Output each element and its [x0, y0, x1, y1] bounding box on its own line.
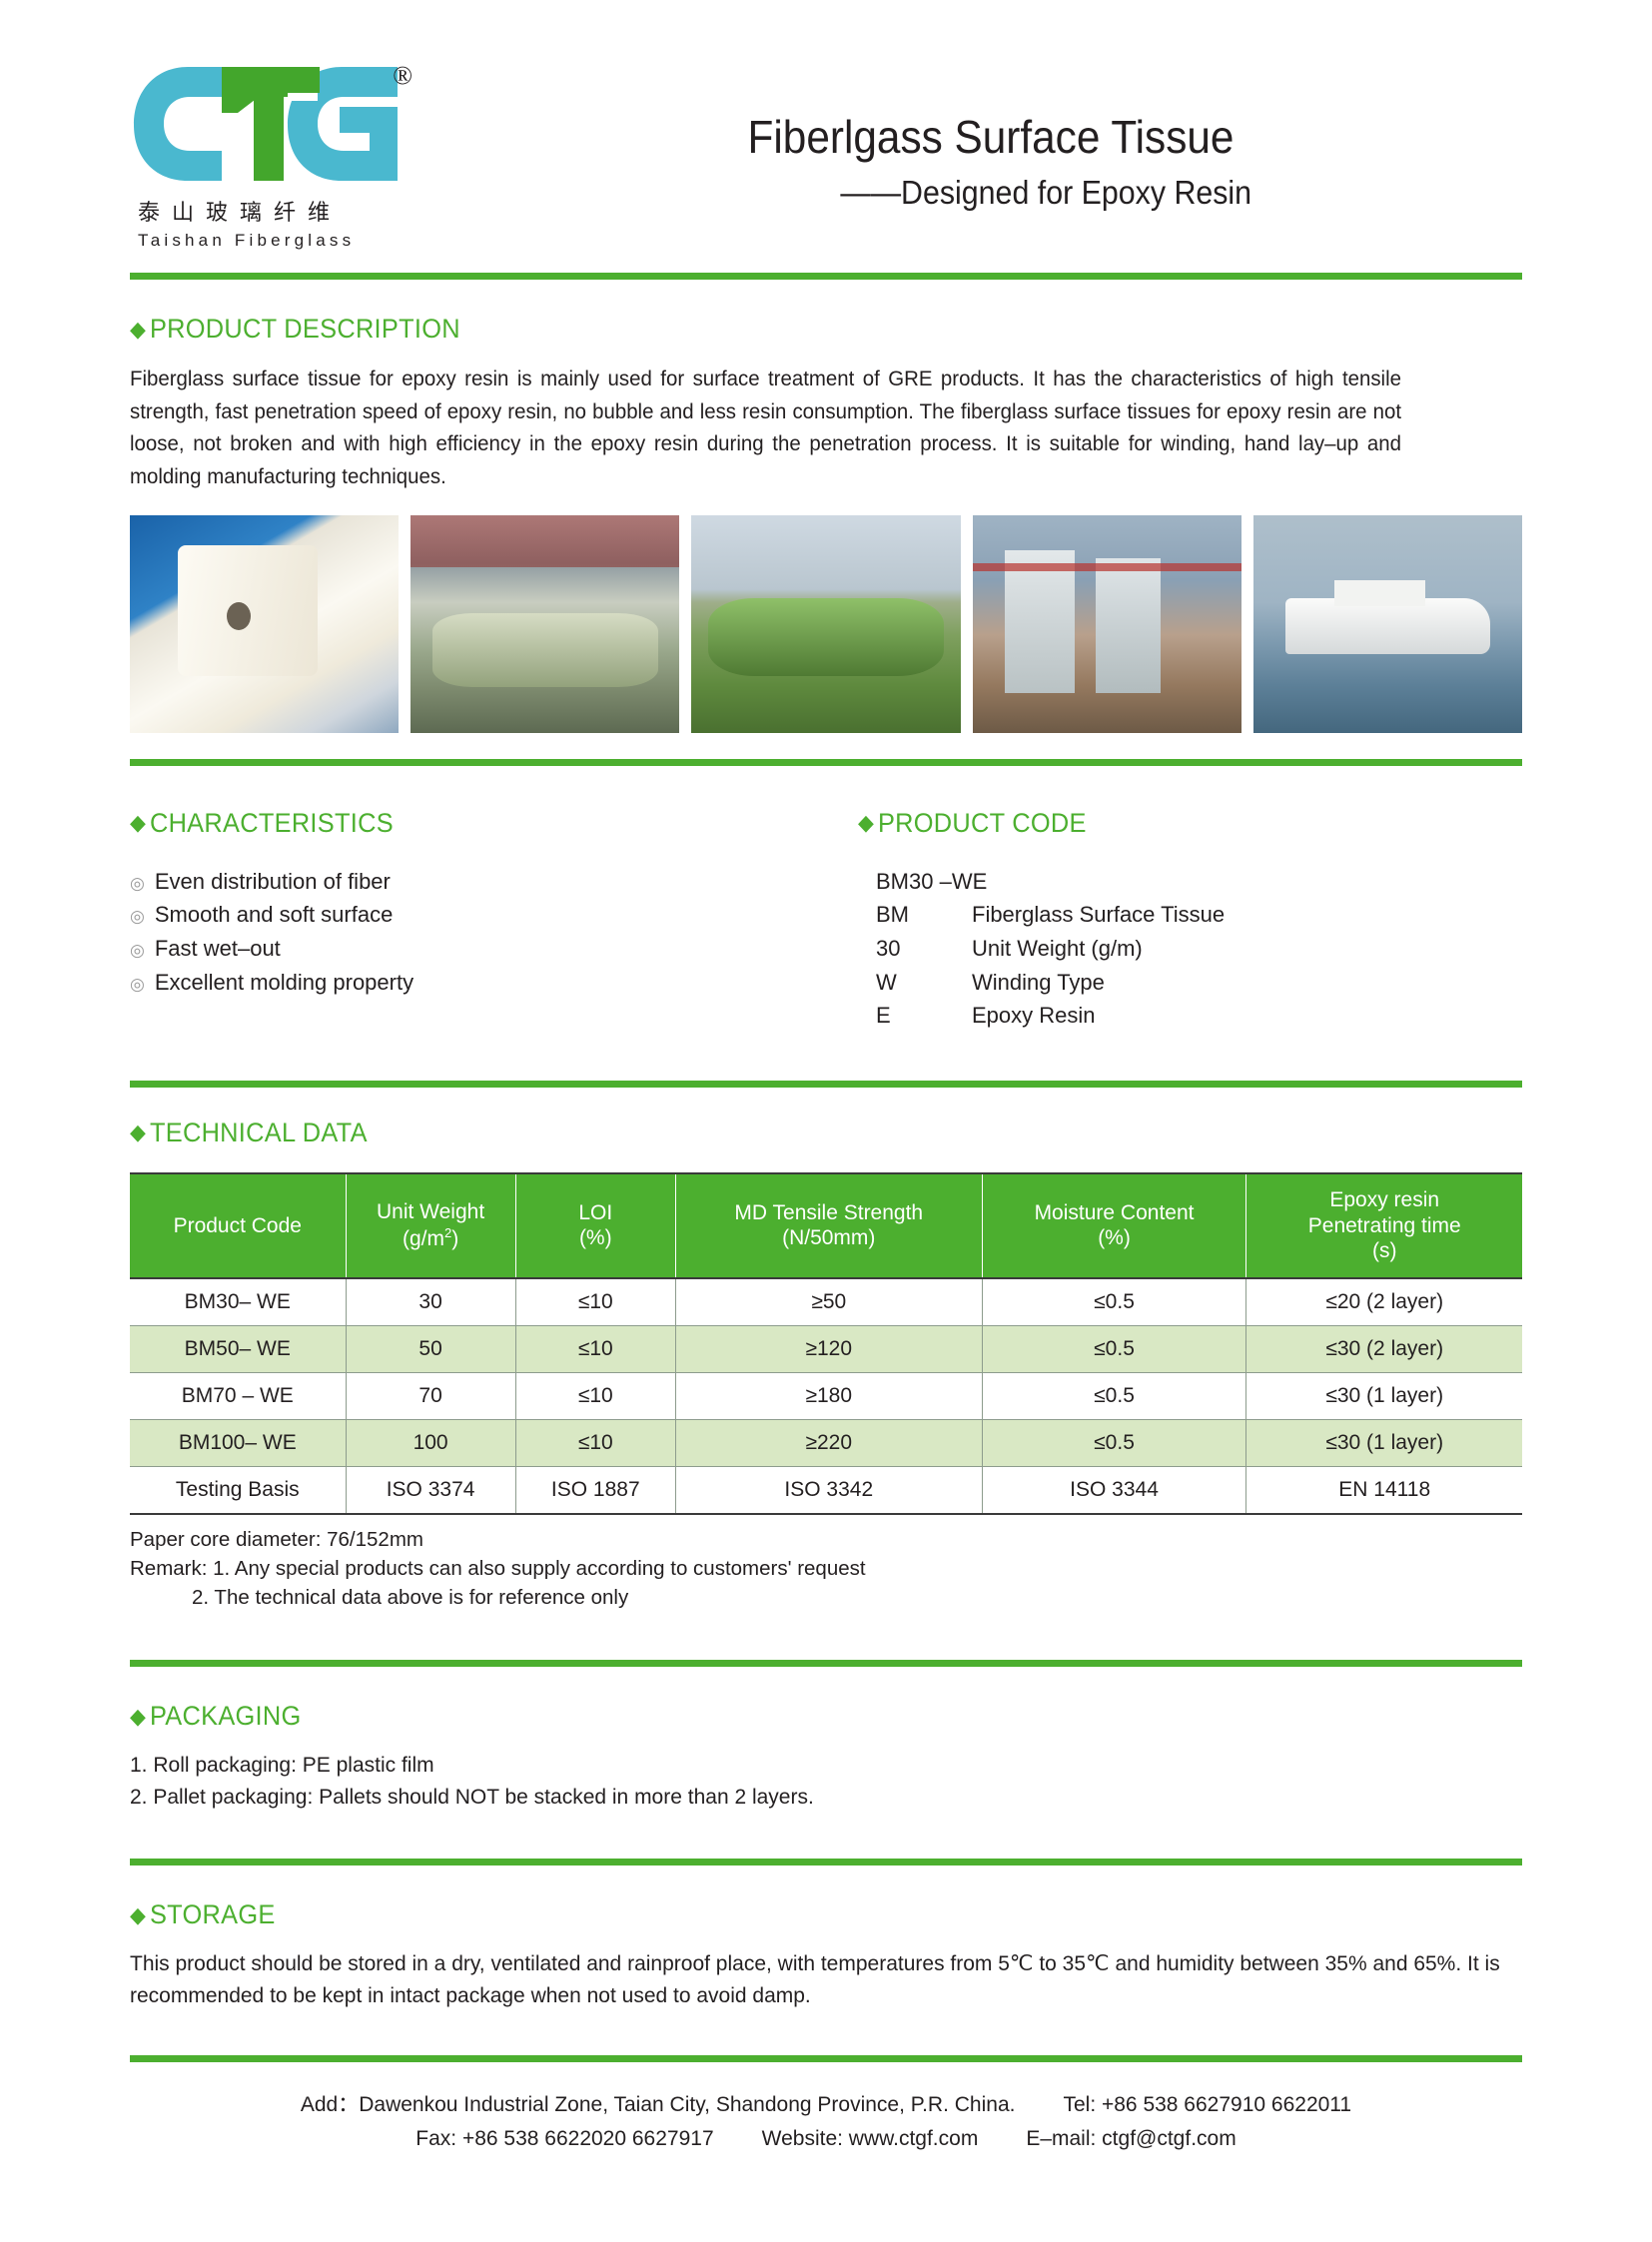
ctg-logo-icon: ® — [130, 63, 405, 185]
divider-header — [130, 273, 1522, 280]
cell-unit-weight: 50 — [346, 1325, 515, 1372]
section-heading-storage: ◆ STORAGE — [130, 1899, 1438, 1930]
footer-address: Add：Dawenkou Industrial Zone, Taian City… — [301, 2088, 1016, 2122]
title-block: Fiberlgass Surface Tissue ——Designed for… — [459, 55, 1522, 212]
column-header-md-tensile-strength: MD Tensile Strength (N/50mm) — [675, 1173, 982, 1278]
footer-telephone: Tel: +86 538 6627910 6622011 — [1015, 2088, 1351, 2122]
note-paper-core: Paper core diameter: 76/152mm — [130, 1525, 1522, 1554]
code-value: Fiberglass Surface Tissue — [972, 898, 1225, 932]
section-title-text: PACKAGING — [150, 1701, 302, 1732]
cell-testing-basis-moisture: ISO 3344 — [982, 1466, 1246, 1514]
list-item: E Epoxy Resin — [876, 999, 1522, 1033]
list-item: BM Fiberglass Surface Tissue — [876, 898, 1522, 932]
photo-green-frp-tank — [691, 515, 960, 733]
page-header: ® 泰山玻璃纤维 Taishan Fiberglass Fiberlgass S… — [0, 0, 1652, 251]
note-remark-1: Remark: 1. Any special products can also… — [130, 1554, 1522, 1583]
table-header: Product Code Unit Weight (g/m2) LOI (%) … — [130, 1173, 1522, 1278]
column-header-moisture-content: Moisture Content (%) — [982, 1173, 1246, 1278]
page-title: Fiberlgass Surface Tissue — [502, 110, 1480, 164]
section-heading-technical-data: ◆ TECHNICAL DATA — [130, 1118, 1438, 1148]
cell-unit-weight: 30 — [346, 1278, 515, 1326]
diamond-bullet-icon: ◆ — [130, 812, 146, 834]
cell-md-tensile: ≥180 — [675, 1372, 982, 1419]
cell-product-code: BM50– WE — [130, 1325, 346, 1372]
section-heading-product-code: ◆ PRODUCT CODE — [858, 808, 1482, 839]
product-description-paragraph: Fiberglass surface tissue for epoxy resi… — [130, 363, 1401, 493]
technical-data-table-wrapper: Product Code Unit Weight (g/m2) LOI (%) … — [0, 1172, 1652, 1515]
circle-bullet-icon: ◎ — [130, 938, 145, 964]
product-code-example-text: BM30 –WE — [876, 865, 987, 899]
cell-product-code: BM30– WE — [130, 1278, 346, 1326]
circle-bullet-icon: ◎ — [130, 871, 145, 897]
datasheet-page: ® 泰山玻璃纤维 Taishan Fiberglass Fiberlgass S… — [0, 0, 1652, 2242]
footer-website: Website: www.ctgf.com — [714, 2122, 979, 2156]
list-item: ◎ Smooth and soft surface — [130, 898, 826, 932]
list-item: ◎ Even distribution of fiber — [130, 865, 826, 899]
cell-loi: ≤10 — [515, 1325, 675, 1372]
list-item: ◎ Excellent molding property — [130, 966, 826, 1000]
note-remark-2: 2. The technical data above is for refer… — [130, 1583, 1522, 1612]
diamond-bullet-icon: ◆ — [130, 1904, 146, 1926]
table-header-row: Product Code Unit Weight (g/m2) LOI (%) … — [130, 1173, 1522, 1278]
table-row: BM30– WE 30 ≤10 ≥50 ≤0.5 ≤20 (2 layer) — [130, 1278, 1522, 1326]
circle-bullet-icon: ◎ — [130, 904, 145, 930]
section-heading-packaging: ◆ PACKAGING — [130, 1701, 1438, 1732]
diamond-bullet-icon: ◆ — [130, 1121, 146, 1143]
product-photo-strip — [130, 515, 1522, 733]
cell-product-code: BM70 – WE — [130, 1372, 346, 1419]
photo-frp-storage-tanks — [973, 515, 1241, 733]
circle-bullet-icon: ◎ — [130, 972, 145, 998]
cell-moisture: ≤0.5 — [982, 1372, 1246, 1419]
column-header-unit-weight: Unit Weight (g/m2) — [346, 1173, 515, 1278]
code-key: BM — [876, 898, 972, 932]
list-item-label: Excellent molding property — [155, 966, 413, 1000]
section-title-text: STORAGE — [150, 1899, 276, 1930]
diamond-bullet-icon: ◆ — [130, 319, 146, 341]
company-name-english: Taishan Fiberglass — [138, 231, 459, 251]
divider-after-table — [130, 1660, 1522, 1667]
table-row: BM50– WE 50 ≤10 ≥120 ≤0.5 ≤30 (2 layer) — [130, 1325, 1522, 1372]
cell-md-tensile: ≥120 — [675, 1325, 982, 1372]
packaging-list: 1. Roll packaging: PE plastic film 2. Pa… — [130, 1750, 1522, 1813]
code-value: Unit Weight (g/m) — [972, 932, 1143, 966]
section-title-text: TECHNICAL DATA — [150, 1118, 368, 1148]
diamond-bullet-icon: ◆ — [858, 812, 874, 834]
product-code-list: BM30 –WE BM Fiberglass Surface Tissue 30… — [858, 865, 1522, 1033]
cell-testing-basis-md-tensile: ISO 3342 — [675, 1466, 982, 1514]
footer-row-1: Add：Dawenkou Industrial Zone, Taian City… — [130, 2088, 1522, 2122]
section-title-text: PRODUCT DESCRIPTION — [150, 314, 460, 345]
section-heading-characteristics: ◆ CHARACTERISTICS — [130, 808, 784, 839]
cell-moisture: ≤0.5 — [982, 1325, 1246, 1372]
product-code-example: BM30 –WE — [876, 865, 1522, 899]
table-notes: Paper core diameter: 76/152mm Remark: 1.… — [0, 1525, 1652, 1612]
photo-fiberglass-tissue-roll — [130, 515, 399, 733]
column-header-epoxy-penetrating-time: Epoxy resin Penetrating time (s) — [1246, 1173, 1522, 1278]
column-header-product-code: Product Code — [130, 1173, 346, 1278]
characteristics-and-code-row: ◆ CHARACTERISTICS ◎ Even distribution of… — [0, 808, 1652, 1033]
cell-md-tensile: ≥220 — [675, 1419, 982, 1466]
cell-loi: ≤10 — [515, 1419, 675, 1466]
list-item: ◎ Fast wet–out — [130, 932, 826, 966]
footer-fax: Fax: +86 538 6622020 6627917 — [415, 2122, 713, 2156]
code-value: Epoxy Resin — [972, 999, 1096, 1033]
diamond-bullet-icon: ◆ — [130, 1706, 146, 1728]
company-logo: ® 泰山玻璃纤维 Taishan Fiberglass — [130, 55, 459, 251]
cell-testing-basis-loi: ISO 1887 — [515, 1466, 675, 1514]
divider-footer — [130, 2055, 1522, 2062]
list-item-label: Fast wet–out — [155, 932, 281, 966]
cell-moisture: ≤0.5 — [982, 1419, 1246, 1466]
section-title-text: PRODUCT CODE — [878, 808, 1087, 839]
column-header-loi: LOI (%) — [515, 1173, 675, 1278]
cell-loi: ≤10 — [515, 1372, 675, 1419]
section-heading-product-description: ◆ PRODUCT DESCRIPTION — [130, 314, 1438, 345]
cell-testing-basis-unit-weight: ISO 3374 — [346, 1466, 515, 1514]
cell-unit-weight: 100 — [346, 1419, 515, 1466]
divider-after-description — [130, 759, 1522, 766]
cell-testing-basis-penetrating: EN 14118 — [1246, 1466, 1522, 1514]
list-item-label: Even distribution of fiber — [155, 865, 391, 899]
unit-weight-units: (g/m2) — [351, 1225, 511, 1252]
cell-loi: ≤10 — [515, 1278, 675, 1326]
list-item: 30 Unit Weight (g/m) — [876, 932, 1522, 966]
code-key: W — [876, 966, 972, 1000]
table-body: BM30– WE 30 ≤10 ≥50 ≤0.5 ≤20 (2 layer) B… — [130, 1278, 1522, 1514]
cell-moisture: ≤0.5 — [982, 1278, 1246, 1326]
section-title-text: CHARACTERISTICS — [150, 808, 394, 839]
company-name-chinese: 泰山玻璃纤维 — [138, 195, 459, 227]
cell-penetrating-time: ≤30 (1 layer) — [1246, 1419, 1522, 1466]
cell-penetrating-time: ≤30 (1 layer) — [1246, 1372, 1522, 1419]
storage-paragraph: This product should be stored in a dry, … — [130, 1948, 1518, 2011]
divider-after-packaging — [130, 1859, 1522, 1866]
cell-md-tensile: ≥50 — [675, 1278, 982, 1326]
photo-yacht-at-sea — [1253, 515, 1522, 733]
cell-unit-weight: 70 — [346, 1372, 515, 1419]
list-item-label: Smooth and soft surface — [155, 898, 393, 932]
divider-after-characteristics — [130, 1081, 1522, 1088]
cell-penetrating-time: ≤20 (2 layer) — [1246, 1278, 1522, 1326]
page-subtitle: ——Designed for Epoxy Resin — [502, 174, 1480, 212]
page-footer: Add：Dawenkou Industrial Zone, Taian City… — [0, 2088, 1652, 2155]
cell-product-code: BM100– WE — [130, 1419, 346, 1466]
code-key: 30 — [876, 932, 972, 966]
cell-penetrating-time: ≤30 (2 layer) — [1246, 1325, 1522, 1372]
registered-trademark-icon: ® — [393, 61, 413, 91]
code-key: E — [876, 999, 972, 1033]
table-row: BM70 – WE 70 ≤10 ≥180 ≤0.5 ≤30 (1 layer) — [130, 1372, 1522, 1419]
list-item: 2. Pallet packaging: Pallets should NOT … — [130, 1782, 1522, 1814]
cell-testing-basis-label: Testing Basis — [130, 1466, 346, 1514]
footer-row-2: Fax: +86 538 6622020 6627917 Website: ww… — [130, 2122, 1522, 2156]
footer-email: E–mail: ctgf@ctgf.com — [978, 2122, 1236, 2156]
table-row: BM100– WE 100 ≤10 ≥220 ≤0.5 ≤30 (1 layer… — [130, 1419, 1522, 1466]
list-item: 1. Roll packaging: PE plastic film — [130, 1750, 1522, 1782]
code-value: Winding Type — [972, 966, 1105, 1000]
technical-data-table: Product Code Unit Weight (g/m2) LOI (%) … — [130, 1172, 1522, 1515]
table-row-testing-basis: Testing Basis ISO 3374 ISO 1887 ISO 3342… — [130, 1466, 1522, 1514]
photo-gre-pipes-factory — [411, 515, 679, 733]
characteristics-list: ◎ Even distribution of fiber ◎ Smooth an… — [130, 865, 826, 1000]
list-item: W Winding Type — [876, 966, 1522, 1000]
